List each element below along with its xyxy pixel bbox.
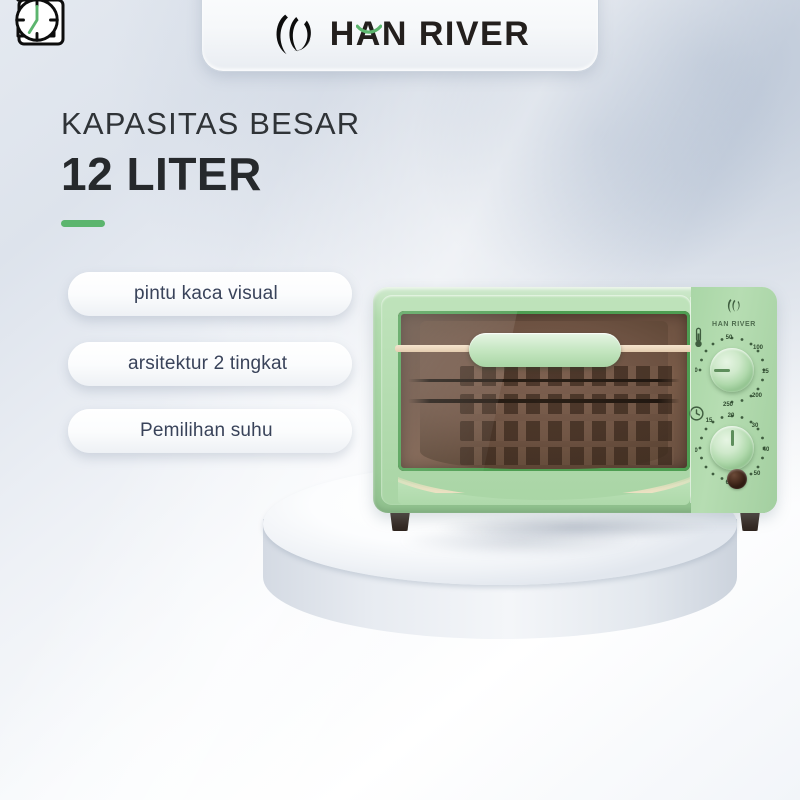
oven-door-skirt bbox=[398, 465, 690, 505]
oven-drop-shadow bbox=[385, 509, 767, 545]
svg-text:50: 50 bbox=[754, 471, 761, 477]
svg-text:15: 15 bbox=[706, 418, 713, 424]
svg-text:0: 0 bbox=[695, 368, 698, 374]
feature-pill-two-tier-architecture[interactable]: arsitektur 2 tingkat bbox=[68, 342, 352, 386]
brand-name-han: HAN bbox=[330, 17, 408, 51]
feature-pill-label: Pemilihan suhu bbox=[140, 420, 273, 442]
temperature-knob[interactable]: 0 50 100 150 200 250 bbox=[695, 333, 769, 407]
han-river-swirl-logo-small bbox=[725, 297, 743, 315]
headline-title: 12 LITER bbox=[61, 150, 481, 198]
brand-wordmark: HAN RIVER bbox=[330, 17, 531, 51]
cavity-grid-row bbox=[460, 366, 674, 386]
oven-door-frame bbox=[381, 295, 691, 505]
product-marketing-banner: HAN RIVER bbox=[0, 0, 800, 800]
panel-divider bbox=[690, 297, 691, 503]
han-river-swirl-logo bbox=[270, 11, 316, 57]
svg-text:20: 20 bbox=[728, 413, 735, 419]
cavity-grid-row bbox=[460, 421, 674, 441]
brand-green-swoosh-icon bbox=[356, 24, 382, 35]
headline-subtitle: KAPASITAS BESAR bbox=[61, 107, 481, 141]
cavity-grid-row bbox=[460, 394, 674, 414]
toaster-oven-product: HAN RIVER bbox=[373, 287, 777, 537]
feature-pill-temperature-selection[interactable]: Pemilihan suhu bbox=[68, 409, 352, 453]
svg-text:100: 100 bbox=[753, 345, 764, 351]
feature-pill-label: arsitektur 2 tingkat bbox=[128, 353, 287, 375]
timer-knob-pointer bbox=[731, 430, 734, 446]
temperature-timer-dial-icon bbox=[10, 0, 64, 48]
svg-text:0: 0 bbox=[695, 448, 698, 454]
power-indicator-light bbox=[727, 469, 747, 489]
oven-rack-upper bbox=[408, 379, 680, 382]
oven-body: HAN RIVER bbox=[373, 287, 777, 513]
brand-header-card: HAN RIVER bbox=[201, 0, 599, 72]
handle-rod-right bbox=[617, 345, 693, 352]
temperature-knob-pointer bbox=[714, 369, 730, 372]
oven-control-panel: HAN RIVER bbox=[691, 287, 777, 513]
timer-knob-cap[interactable] bbox=[710, 426, 754, 470]
feature-pill-label: pintu kaca visual bbox=[134, 283, 278, 305]
oven-rack-lower bbox=[408, 399, 680, 403]
temperature-knob-cap[interactable] bbox=[710, 348, 754, 392]
svg-text:250: 250 bbox=[723, 402, 734, 407]
svg-text:200: 200 bbox=[752, 393, 763, 399]
brand-lockup: HAN RIVER bbox=[270, 11, 531, 57]
oven-brand-logo: HAN RIVER bbox=[701, 297, 767, 328]
oven-brand-name: HAN RIVER bbox=[701, 321, 767, 328]
svg-text:30: 30 bbox=[752, 423, 759, 429]
handle-rod-left bbox=[395, 345, 471, 352]
svg-text:40: 40 bbox=[763, 447, 769, 453]
svg-text:150: 150 bbox=[762, 369, 769, 375]
accent-dash bbox=[61, 220, 105, 227]
oven-door-handle[interactable] bbox=[469, 333, 621, 367]
svg-text:50: 50 bbox=[726, 335, 733, 341]
headline-block: KAPASITAS BESAR 12 LITER bbox=[61, 107, 481, 227]
feature-pill-visual-glass-door[interactable]: pintu kaca visual bbox=[68, 272, 352, 316]
brand-name-river: RIVER bbox=[419, 15, 530, 53]
cavity-grid-row bbox=[460, 447, 674, 465]
